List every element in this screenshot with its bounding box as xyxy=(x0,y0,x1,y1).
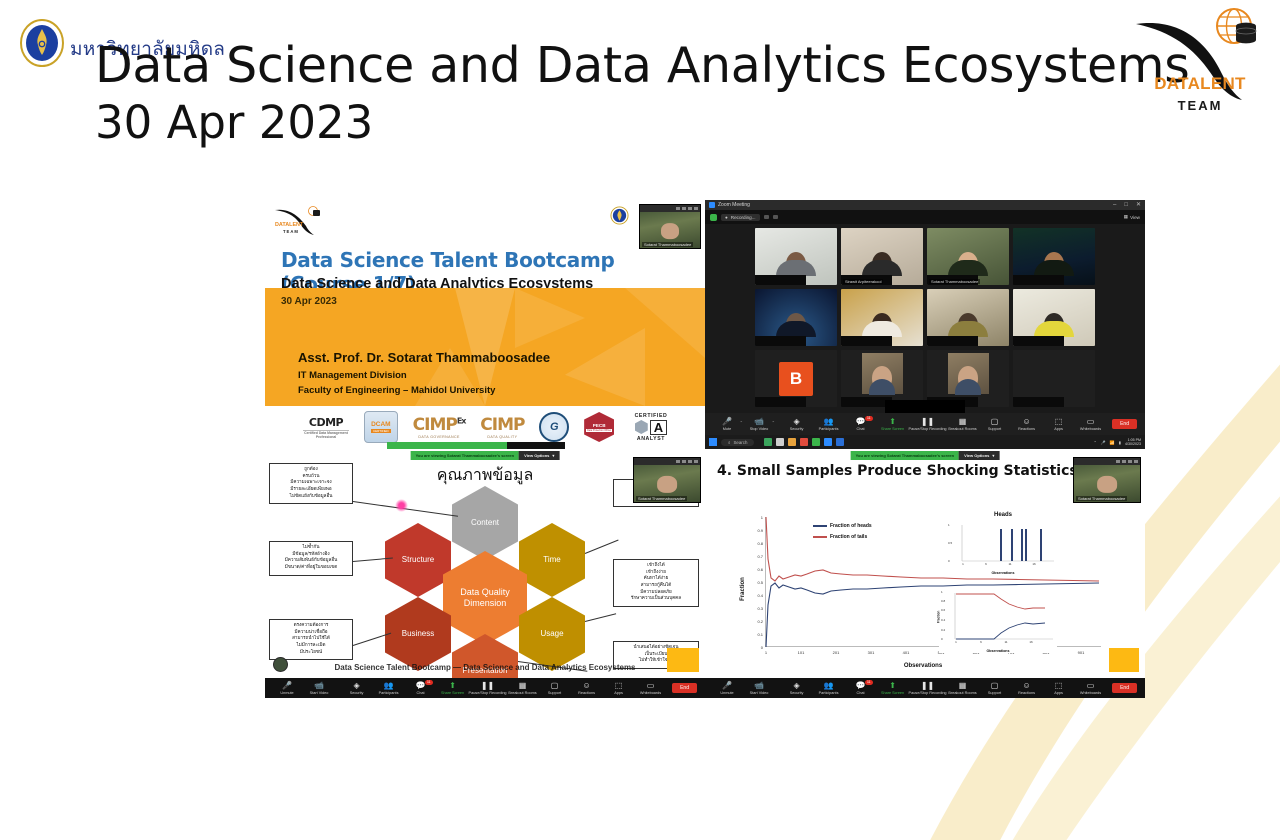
callout-content: ถูกต้อง ครบถ้วน มีความเฉพาะเจาะจง มีรายล… xyxy=(269,463,353,504)
pip-name-label: Sotarat Thammaboosadee xyxy=(1076,496,1127,501)
chart-legend: Fraction of heads Fraction of tails xyxy=(813,523,872,545)
gallery-row xyxy=(755,289,1095,346)
participant-tile[interactable] xyxy=(1013,228,1095,285)
security-button[interactable]: ◈Security xyxy=(781,681,813,695)
close-button[interactable]: ✕ xyxy=(1136,202,1141,208)
pip-window-controls[interactable] xyxy=(634,458,700,465)
quadrant-title-slide: DATALENT TEAM Data Science Talent Bootca… xyxy=(265,200,705,449)
participant-tile[interactable] xyxy=(841,350,923,407)
participant-tile[interactable] xyxy=(927,289,1009,346)
cimp-ex-badge: CIMPEx DATA GOVERNANCE xyxy=(413,415,466,439)
chat-button[interactable]: 11💬Chat xyxy=(845,681,877,695)
whiteboard-icon: ▭ xyxy=(1087,417,1095,426)
battery-icon[interactable]: ▮ xyxy=(1119,440,1121,445)
microphone-muted-icon: 🎤 xyxy=(722,681,732,690)
coin-flip-chart: Fraction 1 0.9 0.8 0.7 0.6 0.5 0.4 0.3 0… xyxy=(743,509,1103,669)
participant-tile[interactable] xyxy=(755,228,837,285)
chevron-up-icon[interactable]: ⌃ xyxy=(772,420,775,425)
zoom-toolbar: 🎤Unmute 📹Start Video ◈Security 👥Particip… xyxy=(265,678,705,698)
participant-tile-initial[interactable]: B xyxy=(755,350,837,407)
self-view-thumbnail[interactable]: Sotarat Thammaboosadee xyxy=(633,457,701,503)
security-button[interactable]: ◈Security xyxy=(341,681,373,695)
whiteboard-icon: ▭ xyxy=(1087,681,1095,690)
callout-usage: เข้าถึงได้ เข้าถึงง่าย ค้นหาได้ง่าย สามา… xyxy=(613,559,699,607)
datalent-wordmark: DATALENT xyxy=(1138,74,1262,94)
pause-stop-recording-button[interactable]: ❚❚Pause/Stop Recording xyxy=(909,681,947,695)
zoom-toolbar: 🎤Unmute 📹Start Video ◈Security 👥Particip… xyxy=(705,678,1145,698)
slide-brand-team: TEAM xyxy=(283,229,299,234)
slide-mahidol-logo-icon xyxy=(610,206,629,225)
start-button-icon[interactable] xyxy=(709,438,717,446)
chat-button[interactable]: 11💬Chat xyxy=(845,417,877,431)
maximize-button[interactable]: □ xyxy=(1124,202,1128,208)
callout-structure: ไม่ซ้ำกัน มีข้อมูล/รหัสอ้างอิง มีความสัม… xyxy=(269,541,353,576)
reactions-icon: ☺ xyxy=(1022,681,1030,690)
hex-center[interactable]: Data Quality Dimension xyxy=(443,551,527,645)
hex-content[interactable]: Content xyxy=(452,486,518,560)
slide-datalent-logo: DATALENT TEAM xyxy=(273,205,323,237)
participants-button[interactable]: 👥Participants xyxy=(813,417,845,431)
apps-icon: ⬚ xyxy=(1055,417,1063,426)
video-camera-off-icon: 📹 xyxy=(754,681,764,690)
app-icon-6[interactable] xyxy=(824,438,832,446)
pip-name-label: Sotarat Thammaboosadee xyxy=(642,242,693,247)
participant-tile[interactable] xyxy=(1013,289,1095,346)
microphone-icon: 🎤 xyxy=(722,417,732,426)
cimp-badge: CIMP DATA QUALITY xyxy=(480,415,524,439)
reactions-button[interactable]: ☺Reactions xyxy=(1011,417,1043,431)
stop-video-button[interactable]: 📹Stop Video⌃ xyxy=(743,417,775,431)
legend-item-tails: Fraction of tails xyxy=(813,534,872,540)
search-icon: ⌕ xyxy=(728,440,730,445)
datalent-team-logo: DATALENT TEAM xyxy=(1130,2,1270,122)
app-icon-7[interactable] xyxy=(836,438,844,446)
end-meeting-button[interactable]: End xyxy=(1112,419,1137,429)
participant-tile[interactable]: Sotarat Thammaboosadee xyxy=(927,228,1009,285)
callout-business: ตรงความต้องการ มีความน่าเชื่อถือ สามารถน… xyxy=(269,619,353,660)
participants-button[interactable]: 👥Participants xyxy=(373,681,405,695)
breakout-rooms-icon: ▦ xyxy=(959,417,967,426)
whiteboard-icon: ▭ xyxy=(647,681,655,690)
circle-badge: G xyxy=(539,412,569,442)
slide-footer: Data Science Talent Bootcamp — Data Scie… xyxy=(265,663,705,672)
app-icon-4[interactable] xyxy=(800,438,808,446)
stat-slide-title: 4. Small Samples Produce Shocking Statis… xyxy=(717,463,1078,479)
inset-fraction-chart: 1 0.8 0.6 0.4 0.2 0 1 6 11 16 Fraction O… xyxy=(939,587,1057,653)
share-screen-button[interactable]: ⬆Share Screen xyxy=(877,681,909,695)
share-screen-icon: ⬆ xyxy=(889,681,896,690)
share-message: You are viewing Sotarat Thammaboosadee's… xyxy=(411,451,519,460)
slide-corner-badge xyxy=(273,657,288,672)
participants-button[interactable]: 👥Participants xyxy=(813,681,845,695)
pecb-badge: PECB Data Protection Officer xyxy=(584,412,614,442)
slide-affiliation-2: Faculty of Engineering – Mahidol Univers… xyxy=(298,385,495,396)
apps-button[interactable]: ⬚Apps xyxy=(603,681,635,695)
share-screen-icon: ⬆ xyxy=(449,681,456,690)
reactions-button[interactable]: ☺Reactions xyxy=(1011,681,1043,695)
taskbar-apps xyxy=(764,438,844,446)
self-view-thumbnail[interactable]: Sotarat Thammaboosadee xyxy=(1073,457,1141,503)
whiteboards-button[interactable]: ▭Whiteboards xyxy=(1075,681,1107,695)
screen-share-banner: You are viewing Sotarat Thammaboosadee's… xyxy=(851,451,1000,460)
slide-corner-tag xyxy=(1109,648,1139,672)
support-icon: ▢ xyxy=(991,681,999,690)
slide-speaker: Asst. Prof. Dr. Sotarat Thammaboosadee xyxy=(298,350,550,365)
participant-tile[interactable] xyxy=(841,289,923,346)
shield-icon: ◈ xyxy=(793,417,799,426)
zoom-toolbar: 🎤Mute⌃ 📹Stop Video⌃ ◈Security 👥Participa… xyxy=(705,413,1145,435)
start-video-button[interactable]: 📹Start Video xyxy=(743,681,775,695)
pip-window-controls[interactable] xyxy=(1074,458,1140,465)
network-icon[interactable]: 📶 xyxy=(1110,440,1115,445)
hex-business[interactable]: Business xyxy=(385,597,451,671)
share-screen-button[interactable]: ⬆Share Screen xyxy=(877,417,909,431)
pause-stop-recording-button[interactable]: ❚❚Pause/Stop Recording xyxy=(469,681,507,695)
black-strip xyxy=(507,442,565,449)
participant-tile-active-speaker[interactable]: Sirawit Arpiteerakool xyxy=(841,228,923,285)
encryption-shield-icon[interactable] xyxy=(710,214,717,221)
chart-xlabel: Observations xyxy=(743,663,1103,669)
recording-indicator[interactable]: ● Recording... xyxy=(721,214,760,221)
support-button[interactable]: ▢Support xyxy=(539,681,571,695)
grid-view-icon: ▦ xyxy=(1124,214,1128,220)
self-view-thumbnail[interactable]: Sotarat Thammaboosadee xyxy=(639,204,701,249)
participant-tile[interactable] xyxy=(927,350,1009,407)
pause-stop-recording-button[interactable]: ❚❚Pause/Stop Recording xyxy=(909,417,947,431)
inset-heads-chart: Heads 1 0.5 0 1 6 11 xyxy=(948,513,1058,575)
share-screen-icon: ⬆ xyxy=(889,417,896,426)
page-date: 30 Apr 2023 xyxy=(95,96,1095,150)
app-icon-1[interactable] xyxy=(764,438,772,446)
recording-controls-icon: ❚❚ xyxy=(481,681,494,690)
reactions-icon: ☺ xyxy=(1022,417,1030,426)
quadrant-statistics-slide: You are viewing Sotarat Thammaboosadee's… xyxy=(705,449,1145,698)
chat-button[interactable]: 11💬Chat xyxy=(405,681,437,695)
apps-button[interactable]: ⬚Apps xyxy=(1043,681,1075,695)
shield-icon: ◈ xyxy=(793,681,799,690)
zoom-app-title: Zoom Meeting xyxy=(718,202,750,208)
inset-series-tails xyxy=(956,594,1045,609)
breakout-rooms-icon: ▦ xyxy=(959,681,967,690)
zoom-sub-bar: ● Recording... ▦ View xyxy=(705,210,1145,224)
shield-icon: ◈ xyxy=(353,681,359,690)
recording-controls-icon: ❚❚ xyxy=(921,417,934,426)
unmute-button[interactable]: 🎤Unmute xyxy=(711,681,743,695)
people-icon: 👥 xyxy=(384,681,394,690)
zoom-title-bar: Zoom Meeting – □ ✕ xyxy=(705,200,1145,210)
chevron-down-icon: ▾ xyxy=(992,453,994,458)
video-camera-off-icon: 📹 xyxy=(314,681,324,690)
support-button[interactable]: ▢Support xyxy=(979,681,1011,695)
leader-line xyxy=(585,540,619,554)
green-share-indicator xyxy=(387,442,507,449)
support-icon: ▢ xyxy=(991,417,999,426)
whiteboards-button[interactable]: ▭Whiteboards xyxy=(635,681,667,695)
reactions-icon: ☺ xyxy=(582,681,590,690)
zoom-app-icon xyxy=(709,202,715,208)
pause-recording-icon[interactable] xyxy=(764,215,769,219)
page-header: มหาวิทยาลัยมหิดล Data Science and Data A… xyxy=(0,0,1280,185)
cdmp-badge: CDMP Certified Data Management Professio… xyxy=(303,416,349,439)
breakout-rooms-button[interactable]: ▦Breakout Rooms xyxy=(947,681,979,695)
hex-structure[interactable]: Structure xyxy=(385,523,451,597)
slide-corner-tag xyxy=(667,648,699,672)
pip-name-label: Sotarat Thammaboosadee xyxy=(636,496,687,501)
slide-brand-word: DATALENT xyxy=(275,222,303,228)
title-block: Data Science and Data Analytics Ecosyste… xyxy=(95,38,1095,150)
apps-button[interactable]: ⬚Apps xyxy=(1043,417,1075,431)
unmute-button[interactable]: 🎤Unmute xyxy=(271,681,303,695)
screen-share-banner: You are viewing Sotarat Thammaboosadee's… xyxy=(411,451,560,460)
inset-series-heads xyxy=(956,623,1045,639)
dcam-badge: DCAM CERTIFIED xyxy=(364,411,398,443)
breakout-rooms-icon: ▦ xyxy=(519,681,527,690)
share-message: You are viewing Sotarat Thammaboosadee's… xyxy=(851,451,959,460)
whiteboards-button[interactable]: ▭Whiteboards xyxy=(1075,417,1107,431)
slide-affiliation-1: IT Management Division xyxy=(298,370,407,381)
video-camera-icon: 📹 xyxy=(754,417,764,426)
breakout-rooms-button[interactable]: ▦Breakout Rooms xyxy=(507,681,539,695)
recording-controls-icon: ❚❚ xyxy=(921,681,934,690)
start-video-button[interactable]: 📹Start Video xyxy=(303,681,335,695)
stop-recording-icon[interactable] xyxy=(773,215,778,219)
taskbar-clock[interactable]: 1:05 PM 4/30/2023 xyxy=(1125,438,1141,447)
legend-item-heads: Fraction of heads xyxy=(813,523,872,529)
apps-icon: ⬚ xyxy=(615,681,623,690)
database-icon xyxy=(1236,23,1256,44)
page-title: Data Science and Data Analytics Ecosyste… xyxy=(95,38,1095,94)
leader-line xyxy=(585,613,616,622)
taskbar-search[interactable]: ⌕ Search xyxy=(721,439,754,446)
hex-glyph-icon xyxy=(635,420,648,434)
security-button[interactable]: ◈Security xyxy=(781,417,813,431)
support-icon: ▢ xyxy=(551,681,559,690)
mahidol-logo-icon xyxy=(18,19,66,67)
microphone-muted-icon: 🎤 xyxy=(282,681,292,690)
certification-badges: CDMP Certified Data Management Professio… xyxy=(303,410,673,444)
end-meeting-button[interactable]: End xyxy=(1112,683,1137,693)
participant-tile[interactable] xyxy=(1013,350,1095,407)
certified-analyst-badge: CERTIFIED A ANALYST xyxy=(629,413,673,442)
gallery-row: B xyxy=(755,350,1095,407)
breakout-rooms-button[interactable]: ▦Breakout Rooms xyxy=(947,417,979,431)
quadrant-data-quality-slide: You are viewing Sotarat Thammaboosadee's… xyxy=(265,449,705,698)
taskbar-tray: ⌃ 🎤 📶 ▮ 1:05 PM 4/30/2023 xyxy=(1093,438,1141,447)
app-icon-2[interactable] xyxy=(776,438,784,446)
minimize-button[interactable]: – xyxy=(1113,202,1116,208)
reactions-button[interactable]: ☺Reactions xyxy=(571,681,603,695)
support-button[interactable]: ▢Support xyxy=(979,417,1011,431)
slide-date: 30 Apr 2023 xyxy=(281,296,337,307)
participant-grid: Sirawit Arpiteerakool Sotarat Thammaboos… xyxy=(755,228,1095,411)
share-screen-button[interactable]: ⬆Share Screen xyxy=(437,681,469,695)
hex-time[interactable]: Time xyxy=(519,523,585,597)
view-button[interactable]: ▦ View xyxy=(1124,214,1140,220)
app-icon-3[interactable] xyxy=(788,438,796,446)
chevron-down-icon: ▾ xyxy=(552,453,554,458)
participant-tile[interactable] xyxy=(755,289,837,346)
people-icon: 👥 xyxy=(824,681,834,690)
view-options-button[interactable]: View Options ▾ xyxy=(519,451,559,460)
view-options-button[interactable]: View Options ▾ xyxy=(959,451,999,460)
apps-icon: ⬚ xyxy=(1055,681,1063,690)
quadrant-zoom-gallery: Zoom Meeting – □ ✕ ● Recording... ▦ View xyxy=(705,200,1145,449)
gallery-row: Sirawit Arpiteerakool Sotarat Thammaboos… xyxy=(755,228,1095,285)
inset-plot xyxy=(948,513,1058,575)
end-meeting-button[interactable]: End xyxy=(672,683,697,693)
microphone-tray-icon[interactable]: 🎤 xyxy=(1101,440,1106,445)
mute-button[interactable]: 🎤Mute⌃ xyxy=(711,417,743,431)
chevron-up-icon[interactable]: ⌃ xyxy=(1093,440,1096,445)
people-icon: 👥 xyxy=(824,417,834,426)
windows-taskbar: ⌕ Search ⌃ 🎤 📶 ▮ xyxy=(705,435,1145,449)
hex-usage[interactable]: Usage xyxy=(519,597,585,671)
record-icon: ● xyxy=(725,215,728,220)
laser-pointer-dot xyxy=(395,499,408,512)
app-icon-5[interactable] xyxy=(812,438,820,446)
datalent-team-label: TEAM xyxy=(1138,98,1262,113)
screenshot-mosaic: DATALENT TEAM Data Science Talent Bootca… xyxy=(265,200,1145,698)
pip-window-controls[interactable] xyxy=(640,205,700,212)
